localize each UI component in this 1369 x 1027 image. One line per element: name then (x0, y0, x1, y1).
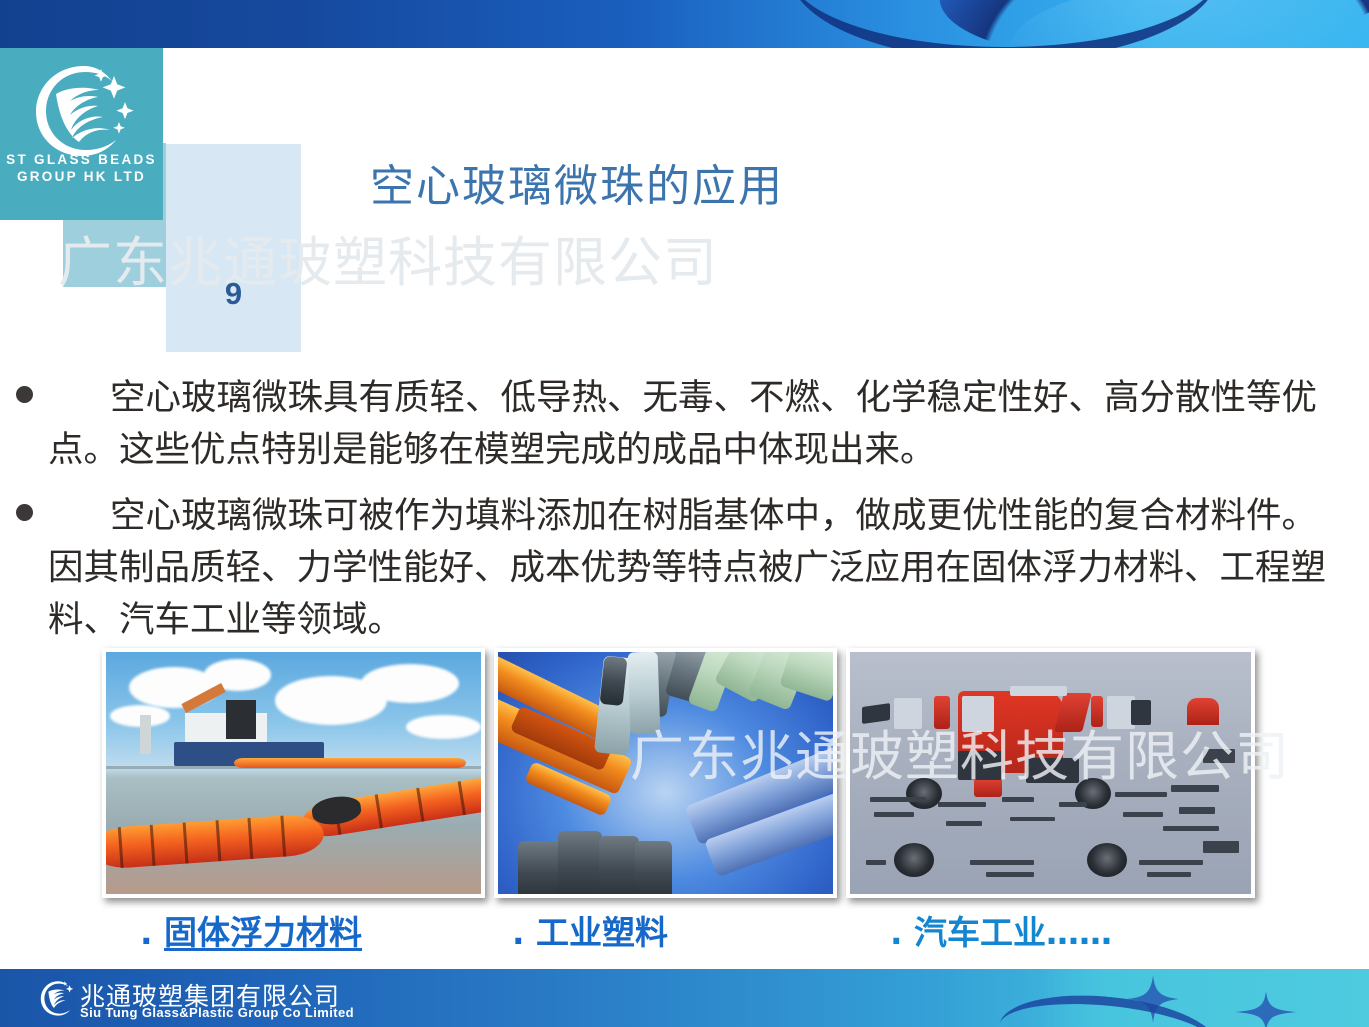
bullet-item: 空心玻璃微珠可被作为填料添加在树脂基体中，做成更优性能的复合材料件。因其制品质轻… (0, 490, 1369, 646)
bullet-text-value: 空心玻璃微珠具有质轻、低导热、无毒、不燃、化学稳定性好、高分散性等优点。这些优点… (48, 377, 1317, 470)
caption-industrial-plastics: . 工业塑料 (512, 906, 668, 954)
presentation-slide: 广东兆通玻塑科技有限公司 9 ST GLASS BEADS GROUP HK L… (0, 0, 1369, 1027)
caption-label: 工业塑料 (536, 913, 668, 952)
footer-curve (995, 986, 1222, 1027)
slide-body: 空心玻璃微珠具有质轻、低导热、无毒、不燃、化学稳定性好、高分散性等优点。这些优点… (0, 372, 1369, 660)
caption-automotive-industry: . 汽车工业…… (890, 906, 1112, 954)
sparkle-star-icon (1235, 991, 1297, 1027)
bullet-item: 空心玻璃微珠具有质轻、低导热、无毒、不燃、化学稳定性好、高分散性等优点。这些优点… (0, 372, 1369, 476)
footer-logo-icon (36, 978, 76, 1018)
page-number: 9 (166, 276, 301, 312)
footer-company-en: Siu Tung Glass&Plastic Group Co Limited (80, 1005, 354, 1020)
caption-marker: . (890, 913, 903, 952)
logo-text-line-1: ST GLASS BEADS (0, 152, 163, 167)
photo-industrial-plastics (494, 648, 837, 898)
caption-label: 固体浮力材料 (164, 913, 362, 952)
photo-captions: . 固体浮力材料 . 工业塑料 . 汽车工业…… (0, 906, 1369, 960)
glass-beads-crescent-icon (22, 60, 142, 160)
bullet-text: 空心玻璃微珠可被作为填料添加在树脂基体中，做成更优性能的复合材料件。因其制品质轻… (48, 490, 1341, 646)
bullet-text: 空心玻璃微珠具有质轻、低导热、无毒、不燃、化学稳定性好、高分散性等优点。这些优点… (48, 372, 1341, 476)
photo-solid-buoyancy-material (102, 648, 485, 898)
caption-label: 汽车工业…… (914, 913, 1112, 952)
logo-text-line-2: GROUP HK LTD (0, 169, 163, 184)
bullet-dot-icon (16, 504, 33, 521)
bullet-text-value: 空心玻璃微珠可被作为填料添加在树脂基体中，做成更优性能的复合材料件。因其制品质轻… (48, 495, 1326, 640)
top-decorative-band (0, 0, 1369, 48)
company-logo-block: ST GLASS BEADS GROUP HK LTD (0, 48, 163, 220)
photo-automotive-industry (846, 648, 1255, 898)
slide-title: 空心玻璃微珠的应用 (370, 150, 1130, 214)
photo-row (0, 648, 1369, 900)
slide-footer: 兆通玻塑集团有限公司 Siu Tung Glass&Plastic Group … (0, 969, 1369, 1027)
caption-solid-buoyancy: . 固体浮力材料 (140, 906, 362, 954)
caption-marker: . (512, 913, 525, 952)
bullet-dot-icon (16, 386, 33, 403)
caption-marker: . (140, 913, 153, 952)
decorative-square-pale (166, 144, 301, 352)
footer-decoration (1039, 969, 1369, 1027)
